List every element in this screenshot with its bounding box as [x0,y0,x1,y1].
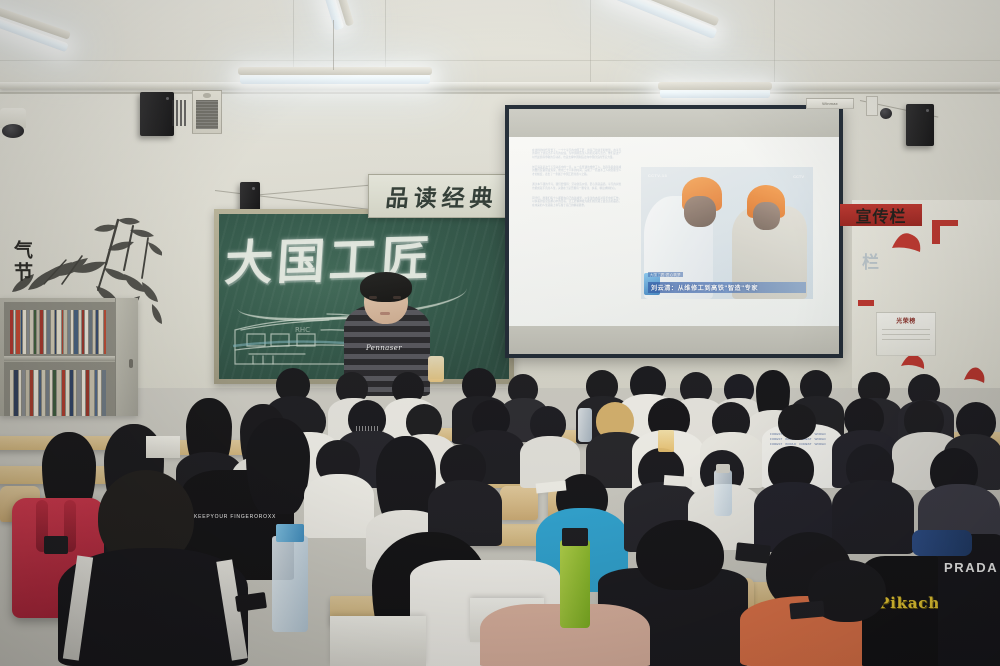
presenter-eye [369,296,377,299]
shirt-print [356,426,378,431]
cup-on-desk [428,356,444,382]
bottle-cap [562,528,588,546]
speaker-box [906,104,934,146]
worker-head [684,196,717,228]
papercut-ornament [962,362,986,384]
student-body [832,480,914,554]
backpack-on-desk [912,530,972,556]
news-caption: 大国工匠·匠心筑梦 刘云清：从维修工到高铁"智造"专家 [648,263,806,293]
slide-text-block: 在这样的时代背景下，一个个平凡的中国工匠，用自己的双手和智慧，在平凡的岗位上创造… [532,149,621,214]
slide-paragraph: 同学们，愿我们每个人都能在自己的领域里，以专注的态度对待手中的工作，以执着的信念… [532,197,621,207]
screen-top-band [509,109,839,137]
worker-head [753,202,780,230]
shirt-text-fingeroroxx: KEEPYOUR FINGEROROXX [194,514,276,520]
backpack-logo-patch [44,536,68,554]
wall-speaker-grille [192,90,222,134]
papercut-ornament [890,228,924,254]
papercut-corner-ornament [930,218,960,246]
notice-rule [882,334,930,335]
banner-text: 品读经典 [384,179,500,213]
foreground-student-head [636,520,724,590]
screen-bottom-band [509,326,839,354]
presenter-hair [360,272,412,302]
water-bottle-green[interactable] [560,540,590,628]
notebook[interactable] [664,475,693,487]
projector-screen: 在这样的时代背景下，一个个平凡的中国工匠，用自己的双手和智慧，在平凡的岗位上创造… [505,105,843,358]
student-body [304,474,374,538]
books-row-upper [10,310,106,354]
bookcase[interactable] [0,298,138,416]
smartphone[interactable] [789,601,824,620]
wall-top-rail [0,82,1000,89]
ceiling-light-housing [658,82,772,90]
presenter-shirt-logo: Pennaser [366,344,402,352]
paper-stack [330,616,426,666]
channel-logo-right: CCTV [793,174,804,179]
speaker-bracket [866,96,878,116]
bulletin-title-text: 宣传栏 [855,203,906,227]
caption-headline: 刘云清：从维修工到高铁"智造"专家 [648,282,806,293]
ceiling-panel-seam [590,0,591,92]
slide-paragraph: 在这样的时代背景下，一个个平凡的中国工匠，用自己的双手和智慧，在平凡的岗位上创造… [532,149,621,159]
caption-subtitle: 大国工匠·匠心筑梦 [648,272,683,277]
box-on-desk [146,436,180,458]
projected-slide: 在这样的时代背景下，一个个平凡的中国工匠，用自己的双手和智慧，在平凡的岗位上创造… [509,137,839,334]
water-bottle[interactable] [578,408,592,442]
cabinet-door[interactable] [115,298,138,416]
notice-rule [882,339,930,340]
dome-camera [0,108,26,128]
books-row-lower [10,370,106,416]
channel-logo-left: CCTV-13 [648,173,667,178]
news-video-frame: CCTV-13 CCTV 大国工匠·匠心筑梦 刘云清：从维修工到高铁"智造"专家 [641,167,813,299]
smartphone[interactable] [735,542,771,563]
bulletin-board-title: 宣传栏 [840,204,922,226]
speaker-box [140,92,174,136]
notice-heading: 光荣榜 [877,316,935,325]
bottle-cap [716,464,730,473]
ceiling-panel-seam [774,0,775,92]
bottle-cap [276,524,304,542]
light-hanger-rod [333,20,334,70]
faded-wall-text: 栏 [862,248,881,273]
projector-control-box [240,182,260,212]
student-long-hair [246,418,310,514]
notice-sheet[interactable]: 光荣榜 [876,312,936,356]
student-head [778,404,816,440]
wire-pulley [880,108,892,119]
slide-paragraph: 通过本节课的学习，我们要懂得：劳动创造价值，匠心铸就品质。平凡的岗位也能成就不凡… [532,183,621,190]
presenter-eye [393,296,401,299]
classroom-photo: 气节 [0,0,1000,666]
blackboard-banner: 品读经典 [368,174,516,218]
speaker-cable [172,100,186,126]
notice-rule [882,329,930,330]
red-paper-strip [858,300,874,306]
presenter-mouth [380,312,390,315]
train-chalk-label: RHC [295,326,310,334]
drink-cup [658,430,674,452]
ceiling-light-housing [238,67,432,75]
water-bottle[interactable] [272,536,308,632]
chair[interactable] [500,486,538,520]
screen-brand-label: Winmax [806,98,854,109]
shirt-text-prada: PRADA [944,560,998,575]
bulletin-board [852,200,1000,388]
slide-paragraph: 刘云清就是这千万劳动者中的一员。从一名普通的维修工人，到高铁装备领域的数控装备研… [532,166,621,176]
water-bottle[interactable] [714,470,732,516]
blackboard-chalk-title: 大国工匠 [223,223,468,301]
smartphone[interactable] [235,592,267,612]
wall-calligraphy: 气节 [10,240,34,284]
ceiling-seam-line [0,60,1000,61]
